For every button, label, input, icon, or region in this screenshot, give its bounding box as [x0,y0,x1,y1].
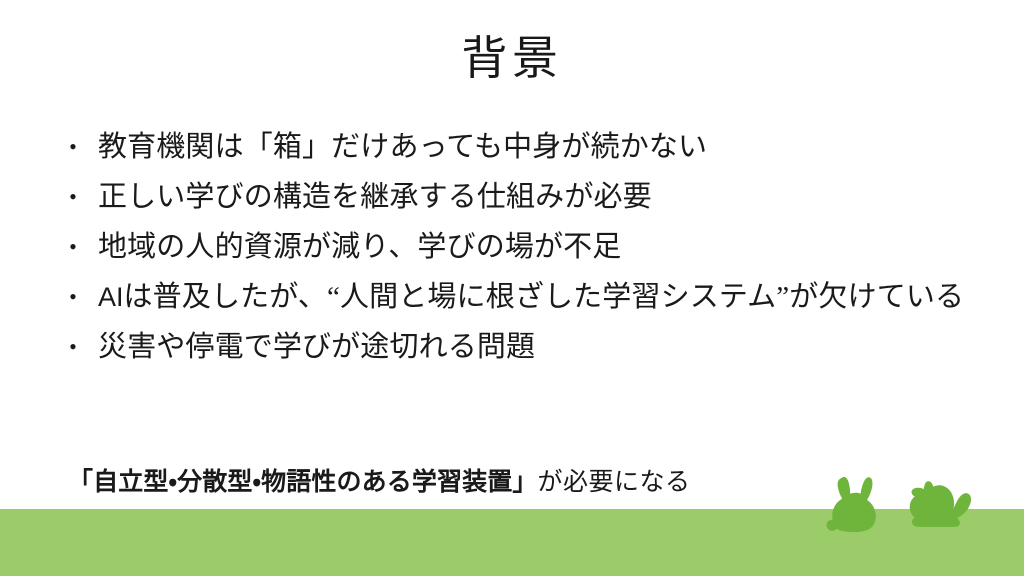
footer-conclusion: 「自立型・分散型・物語性のある学習装置」が必要になる [68,466,691,500]
bullet-dot-icon: • [66,122,80,172]
bullet-dot-icon: • [66,322,80,372]
list-item-label: 正しい学びの構造を継承する仕組みが必要 [98,181,652,213]
list-item: • 地域の人的資源が減り、学びの場が不足 [60,222,980,272]
bullet-list: • 教育機関は「箱」だけあっても中身が続かない • 正しい学びの構造を継承する仕… [60,122,980,372]
rabbit-icon [824,475,888,533]
list-item-latin-prefix: AI [98,282,124,312]
footer-emphasis-text: 「自立型・分散型・物語性のある学習装置」 [68,469,538,496]
list-item-label: は普及したが、“人間と場に根ざした学習システム”が欠けている [124,281,965,313]
bullet-dot-icon: • [66,222,80,272]
bullet-dot-icon: • [66,272,80,322]
list-item: • 教育機関は「箱」だけあっても中身が続かない [60,122,980,172]
footer-tail-text: が必要になる [538,469,691,496]
list-item: • 災害や停電で学びが途切れる問題 [60,322,980,372]
list-item: • 正しい学びの構造を継承する仕組みが必要 [60,172,980,222]
list-item-label: 教育機関は「箱」だけあっても中身が続かない [98,131,707,163]
list-item: • AIは普及したが、“人間と場に根ざした学習システム”が欠けている [60,272,980,322]
slide: 背景 • 教育機関は「箱」だけあっても中身が続かない • 正しい学びの構造を継承… [0,0,1024,576]
squirrel-icon [906,480,976,528]
bullet-dot-icon: • [66,172,80,222]
list-item-label: 災害や停電で学びが途切れる問題 [98,331,535,363]
list-item-label: 地域の人的資源が減り、学びの場が不足 [98,231,621,263]
page-title: 背景 [0,34,1024,85]
